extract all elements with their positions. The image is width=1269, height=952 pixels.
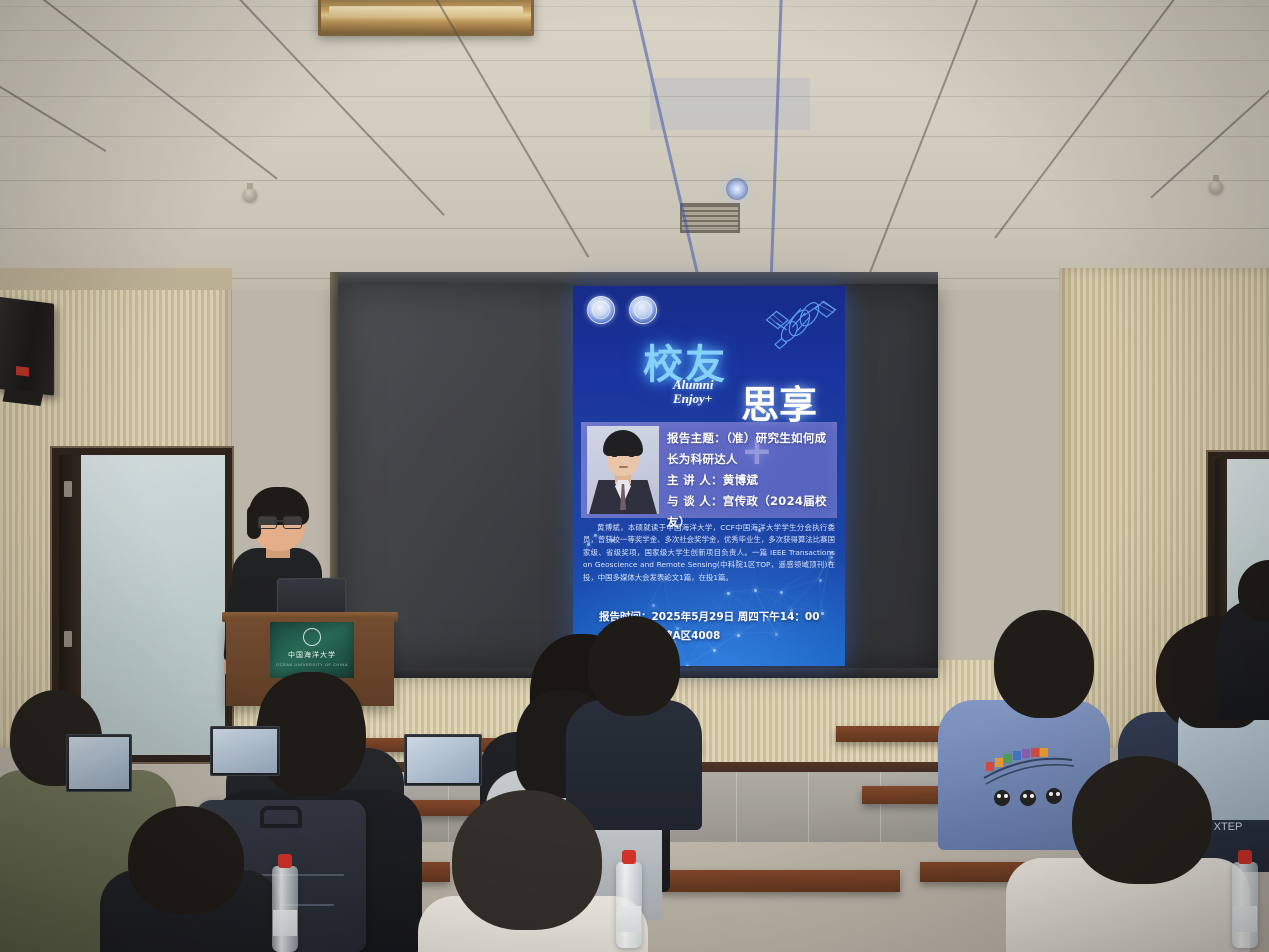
event-poster[interactable]: 校友 Alumni Enjoy+ 思享+ 报告主题：（准）研究生如何成 [573, 286, 845, 666]
ceiling-beam [769, 0, 783, 290]
ceiling-grid-line [0, 180, 1269, 181]
poster-title-en-line2: Enjoy+ [673, 392, 713, 406]
ceiling-beam [867, 0, 982, 279]
poster-topic-line2: 长为科研达人 [667, 449, 833, 470]
ceiling-beam [630, 0, 703, 290]
door-hinge-upper [64, 481, 72, 497]
ceiling-beam [30, 0, 277, 179]
laptop-left-2-screen [213, 729, 277, 773]
floor-tile-line [880, 772, 881, 842]
podium-banner-subtext: OCEAN UNIVERSITY OF CHINA [270, 662, 354, 667]
ceiling-patch [650, 78, 810, 130]
speaker-badge [16, 366, 29, 377]
floor-tile-line [808, 772, 809, 842]
laptop-center-screen [407, 737, 479, 783]
water-bottle-right[interactable] [1232, 862, 1258, 948]
podium-banner: 中国海洋大学 OCEAN UNIVERSITY OF CHINA [270, 622, 354, 678]
svg-text:XTEP: XTEP [1214, 821, 1243, 832]
poster-topic-line1: 报告主题：（准）研究生如何成 [667, 428, 833, 449]
poster-title-en: Alumni Enjoy+ [673, 378, 713, 406]
backpack-handle [260, 806, 302, 828]
smoke-detector-left-icon [243, 188, 257, 201]
desk-row-center-front [660, 870, 900, 892]
ceiling-grid-line [0, 96, 1269, 97]
poster-title-en-line1: Alumni [673, 378, 713, 392]
ceiling-beam [430, 0, 589, 258]
water-bottle-left[interactable] [272, 866, 298, 952]
ceiling-grid-line [0, 60, 1269, 61]
poster-bio-text: 黄博斌，本硕就读于中国海洋大学，CCF中国海洋大学学生分会执行委员，曾获校一等奖… [583, 522, 835, 584]
ceiling [0, 0, 1269, 290]
ceiling-grid-line [0, 136, 1269, 137]
lecture-hall-photo: 校友 Alumni Enjoy+ 思享+ 报告主题：（准）研究生如何成 [0, 0, 1269, 952]
wall-speaker-icon [0, 296, 54, 395]
poster-info-text: 报告主题：（准）研究生如何成 长为科研达人 主 讲 人：黄博斌 与 谈 人：宫传… [667, 428, 833, 533]
laptop-center[interactable] [404, 734, 482, 786]
water-bottle-center[interactable] [616, 862, 642, 948]
poster-speaker-line: 主 讲 人：黄博斌 [667, 470, 833, 491]
ceiling-grid-line [0, 30, 1269, 31]
laptop-left-screen [69, 737, 129, 789]
ceiling-grid-line [0, 228, 1269, 229]
university-emblem-left-icon [587, 296, 615, 324]
satellite-wireframe-icon [755, 294, 841, 356]
wall-header-left [0, 268, 232, 290]
laptop-left-2[interactable] [210, 726, 280, 776]
laptop-left[interactable] [66, 734, 132, 792]
podium-banner-text: 中国海洋大学 [270, 650, 354, 660]
ceiling-beam [0, 0, 106, 152]
ouc-crest-icon [303, 628, 321, 646]
university-emblem-right-icon [629, 296, 657, 324]
ceiling-beam [994, 0, 1182, 239]
smoke-detector-right-icon [1209, 180, 1223, 193]
ceiling-spotlight-icon [726, 178, 748, 200]
floor-tile-line [736, 772, 737, 842]
door-hinge-lower [64, 631, 72, 647]
poster-info-panel: 报告主题：（准）研究生如何成 长为科研达人 主 讲 人：黄博斌 与 谈 人：宫传… [581, 422, 837, 518]
glasses-icon [258, 516, 302, 527]
speaker-headshot [587, 426, 659, 514]
